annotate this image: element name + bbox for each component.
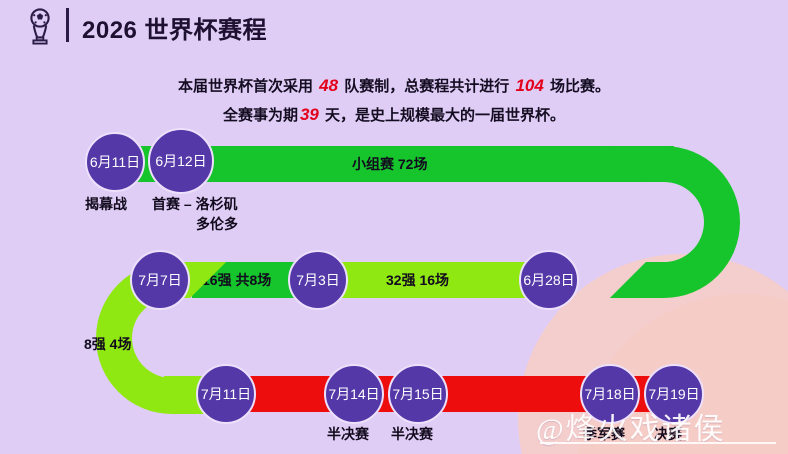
intro-number-104: 104 [513, 76, 545, 95]
node-jul-18-caption: 季军赛 [583, 424, 625, 444]
node-jul-15[interactable]: 7月15日 [388, 364, 448, 424]
infographic-canvas: 2026 世界杯赛程 本届世界杯首次采用 48 队赛制，总赛程共计进行 104 … [0, 0, 788, 454]
node-jul-19-caption: 决赛 [654, 424, 682, 444]
intro-text-block: 本届世界杯首次采用 48 队赛制，总赛程共计进行 104 场比赛。 全赛事为期3… [0, 72, 788, 130]
node-jun-12-date: 6月12日 [155, 151, 206, 171]
intro-line-1-part-b: 队赛制，总赛程共计进行 [344, 78, 509, 95]
node-jul-14[interactable]: 7月14日 [324, 364, 384, 424]
node-jun-12-caption2: 多伦多 [196, 214, 238, 234]
intro-line-2: 全赛事为期39 天，是史上规模最大的一届世界杯。 [0, 101, 788, 130]
node-jul-07[interactable]: 7月7日 [130, 250, 190, 310]
node-jul-18[interactable]: 7月18日 [580, 364, 640, 424]
node-jul-11-date: 7月11日 [201, 384, 251, 404]
header-divider [66, 8, 69, 42]
intro-line-2-part-b: 天，是史上规模最大的一届世界杯。 [325, 107, 565, 124]
node-jun-11-date: 6月11日 [90, 152, 140, 172]
segment-group-stage-label: 小组赛 72场 [352, 146, 427, 182]
intro-number-39: 39 [298, 105, 321, 124]
node-jun-11-caption: 揭幕战 [85, 194, 127, 214]
page-title: 2026 世界杯赛程 [82, 10, 267, 45]
node-jul-18-date: 7月18日 [584, 384, 635, 404]
intro-line-1-part-a: 本届世界杯首次采用 [178, 78, 313, 95]
node-jul-03[interactable]: 7月3日 [288, 250, 348, 310]
node-jul-19[interactable]: 7月19日 [644, 364, 704, 424]
header: 2026 世界杯赛程 [0, 0, 788, 50]
node-jul-03-date: 7月3日 [296, 270, 340, 290]
node-jul-15-date: 7月15日 [392, 384, 443, 404]
world-cup-trophy-icon [23, 7, 57, 45]
node-jul-14-date: 7月14日 [328, 384, 379, 404]
intro-line-1-part-c: 场比赛。 [550, 78, 610, 95]
node-jul-15-caption: 半决赛 [391, 424, 433, 444]
node-jun-28-date: 6月28日 [523, 270, 574, 290]
node-jul-07-date: 7月7日 [138, 270, 182, 290]
intro-line-1: 本届世界杯首次采用 48 队赛制，总赛程共计进行 104 场比赛。 [0, 72, 788, 101]
segment-round-32-label: 32强 16场 [386, 262, 449, 298]
node-jul-11[interactable]: 7月11日 [196, 364, 256, 424]
segment-quarter-label: 8强 4场 [84, 334, 131, 354]
node-jun-12[interactable]: 6月12日 [148, 128, 214, 194]
node-jun-28[interactable]: 6月28日 [519, 250, 579, 310]
intro-number-48: 48 [317, 76, 340, 95]
intro-line-2-part-a: 全赛事为期 [223, 107, 298, 124]
track-turn-right-green [610, 146, 740, 298]
node-jul-19-date: 7月19日 [648, 384, 699, 404]
node-jun-11[interactable]: 6月11日 [85, 132, 145, 192]
node-jul-14-caption: 半决赛 [327, 424, 369, 444]
node-jun-12-caption: 首赛 – 洛杉矶 [152, 194, 238, 214]
